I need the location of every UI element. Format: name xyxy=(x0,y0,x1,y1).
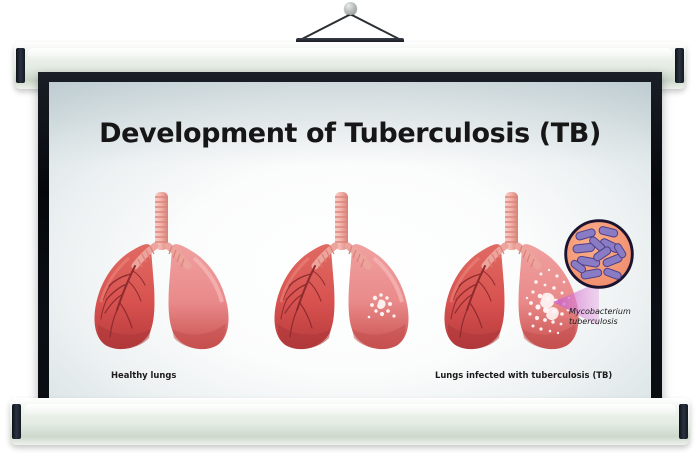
lungs-early-infection-icon xyxy=(251,186,431,361)
bottom-bar-end-cap-left xyxy=(12,404,21,439)
lungs-healthy-icon xyxy=(71,186,251,361)
projection-screen-illustration: Development of Tuberculosis (TB) xyxy=(0,0,700,465)
roller-gloss-top xyxy=(28,48,672,60)
roller-end-cap-left xyxy=(16,48,25,83)
bacteria-species: tuberculosis xyxy=(569,317,651,327)
bacteria-genus: Mycobacterium xyxy=(569,307,651,317)
hanger-arm-left xyxy=(299,12,353,41)
lung-figure-early-infection xyxy=(251,186,431,361)
lung-figure-advanced-infection xyxy=(421,186,601,361)
screen-surface[interactable]: Development of Tuberculosis (TB) xyxy=(49,82,651,402)
screen-frame: Development of Tuberculosis (TB) xyxy=(38,72,662,412)
lung-stages-row xyxy=(49,186,651,361)
bottom-weight-bar[interactable] xyxy=(10,398,690,445)
hanger-hook-knob xyxy=(344,2,357,15)
roller-end-cap-right xyxy=(675,48,684,83)
caption-healthy-lungs: Healthy lungs xyxy=(111,370,176,380)
magnifier-bubble[interactable] xyxy=(563,218,635,290)
hanger-arm-right xyxy=(348,12,402,41)
page-title: Development of Tuberculosis (TB) xyxy=(49,118,651,149)
magnifier-label: Mycobacterium tuberculosis xyxy=(569,307,651,327)
lung-figure-healthy xyxy=(71,186,251,361)
bottom-bar-end-cap-right xyxy=(679,404,688,439)
hanger-assembly xyxy=(0,0,700,42)
roller-gloss-bottom xyxy=(24,404,676,416)
caption-infected-lungs: Lungs infected with tuberculosis (TB) xyxy=(435,370,612,380)
